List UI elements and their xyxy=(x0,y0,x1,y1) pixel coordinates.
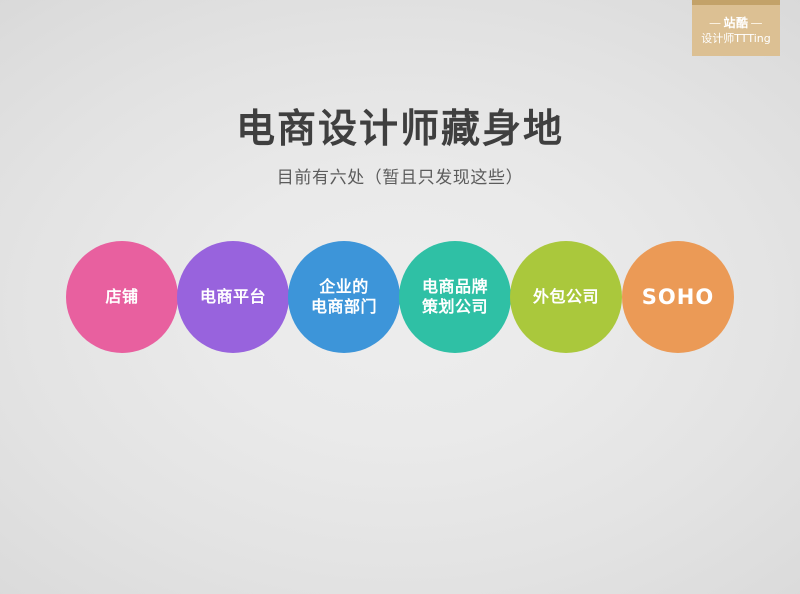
badge-brand-text: 站酷 xyxy=(723,16,748,30)
slide-canvas: —站酷— 设计师TTTing 电商设计师藏身地 目前有六处（暂且只发现这些） 店… xyxy=(0,0,800,594)
watermark-badge: —站酷— 设计师TTTing xyxy=(692,0,780,56)
page-subtitle: 目前有六处（暂且只发现这些） xyxy=(0,168,800,188)
category-circle-label: SOHO xyxy=(638,284,718,310)
page-title: 电商设计师藏身地 xyxy=(0,108,800,153)
badge-author-handle: 设计师TTTing xyxy=(692,33,780,44)
category-circle-label: 外包公司 xyxy=(529,287,603,307)
category-circle-row: 店铺电商平台企业的电商部门电商品牌策划公司外包公司SOHO xyxy=(0,241,800,355)
category-circle-1[interactable]: 店铺 xyxy=(66,241,178,353)
category-circle-5[interactable]: 外包公司 xyxy=(510,241,622,353)
category-circle-label: 电商品牌策划公司 xyxy=(418,277,492,317)
category-circle-2[interactable]: 电商平台 xyxy=(177,241,289,353)
category-circle-4[interactable]: 电商品牌策划公司 xyxy=(399,241,511,353)
badge-dash-left-icon: — xyxy=(707,16,724,30)
category-circle-3[interactable]: 企业的电商部门 xyxy=(288,241,400,353)
badge-brand-line: —站酷— xyxy=(692,17,780,29)
category-circle-6[interactable]: SOHO xyxy=(622,241,734,353)
badge-dash-right-icon: — xyxy=(749,16,766,30)
category-circle-label: 店铺 xyxy=(101,287,142,307)
category-circle-label: 企业的电商部门 xyxy=(307,277,381,317)
badge-top-stripe xyxy=(692,0,780,5)
category-circle-label: 电商平台 xyxy=(196,287,270,307)
